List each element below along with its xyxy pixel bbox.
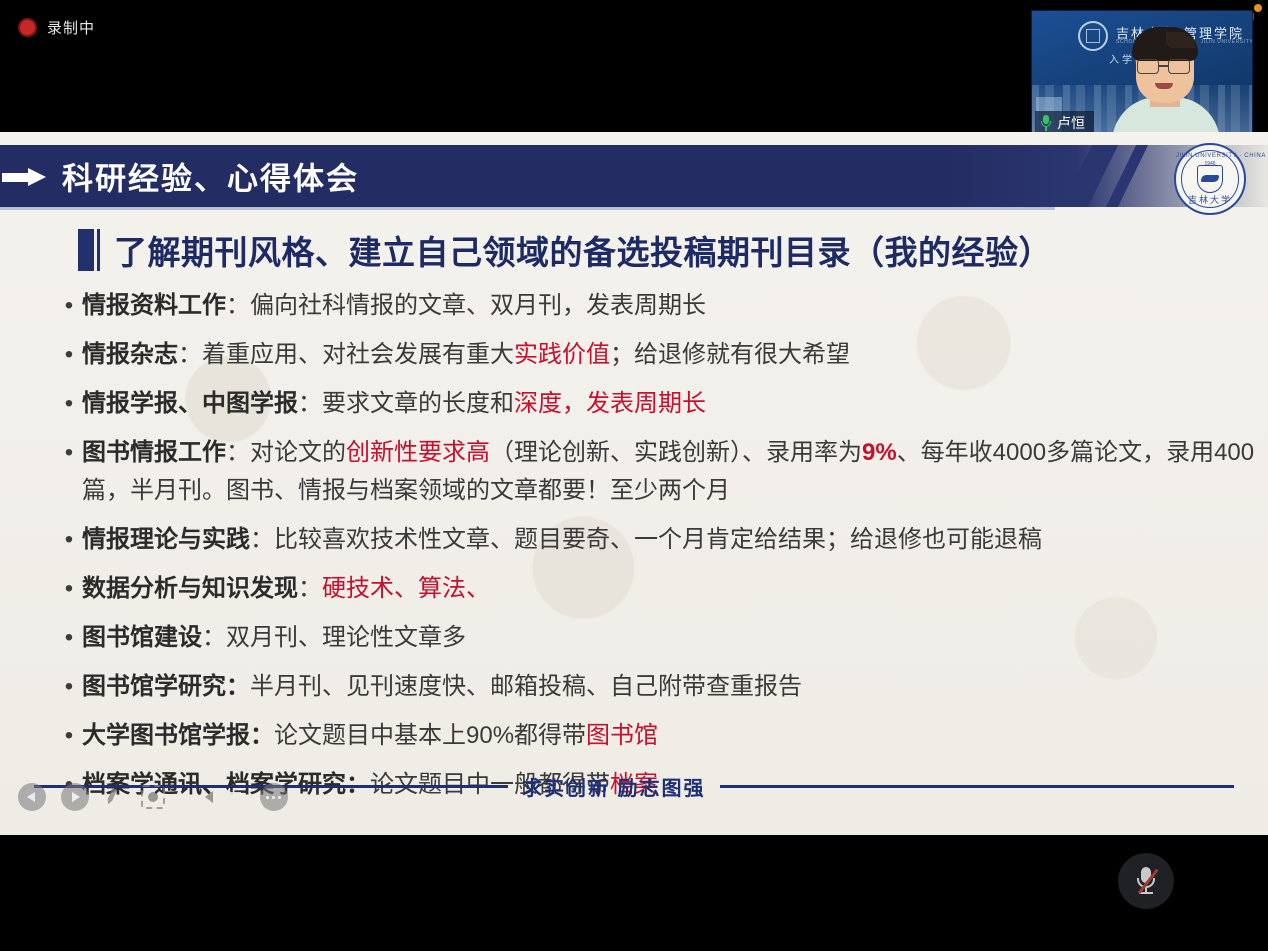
bullet-item: •图书馆建设：双月刊、理论性文章多 [56, 619, 1256, 657]
bullet-text-run: 图书馆建设 [82, 624, 202, 651]
bullet-marker: • [56, 619, 82, 657]
bullet-item: •数据分析与知识发现：硬技术、算法、 [56, 570, 1256, 608]
camera-icon[interactable] [180, 787, 206, 807]
bullet-text-run: ：偏向社科情报的文章、双月刊，发表周期长 [226, 292, 706, 319]
participant-name-badge: 卢恒 [1035, 111, 1094, 134]
bullet-item: •图书馆学研究：半月刊、见刊速度快、邮箱投稿、自己附带查重报告 [56, 668, 1256, 706]
bullet-marker: • [56, 668, 82, 706]
bullet-item: •大学图书馆学报：论文题目中基本上90%都得带图书馆 [56, 717, 1256, 755]
bullet-text: 情报学报、中图学报：要求文章的长度和深度，发表周期长 [82, 385, 1256, 423]
recording-label: 录制中 [47, 17, 95, 38]
bullet-text-run: ： [298, 575, 322, 602]
bullet-text: 大学图书馆学报：论文题目中基本上90%都得带图书馆 [82, 717, 1256, 755]
footer-line-right [720, 785, 1234, 788]
recording-indicator: 录制中 [18, 17, 95, 38]
header-underline [0, 207, 1055, 210]
bullet-text-run: 情报杂志 [82, 341, 178, 368]
bullet-text: 图书馆建设：双月刊、理论性文章多 [82, 619, 1256, 657]
bullet-text-run: 硬技术、算法、 [322, 575, 490, 602]
bullet-text-run: 图书馆 [586, 722, 658, 749]
corner-orange-dot [1254, 4, 1262, 12]
participant-name: 卢恒 [1057, 113, 1085, 133]
microphone-on-icon [1040, 115, 1052, 131]
more-icon[interactable] [260, 783, 288, 811]
bullet-text-run: ：要求文章的长度和 [298, 390, 514, 417]
footer-slogan: 求实创新 励志图强 [522, 772, 706, 801]
bullet-text-run: 9% [862, 439, 897, 466]
microphone-muted-icon [1135, 866, 1157, 896]
slide-title-row: 了解期刊风格、建立自己领域的备选投稿期刊目录（我的经验） [78, 226, 1052, 274]
bullet-text-run: 图书馆学研究： [82, 673, 250, 700]
bullet-item: •情报资料工作：偏向社科情报的文章、双月刊，发表周期长 [56, 287, 1256, 325]
bullet-text-run: 实践价值 [514, 341, 610, 368]
slide-title: 了解期刊风格、建立自己领域的备选投稿期刊目录（我的经验） [114, 226, 1052, 274]
bullet-text: 图书情报工作：对论文的创新性要求高（理论创新、实践创新）、录用率为9%、每年收4… [82, 434, 1256, 510]
bullet-marker: • [56, 336, 82, 374]
bullet-text-run: 半月刊、见刊速度快、邮箱投稿、自己附带查重报告 [250, 673, 802, 700]
pen-icon[interactable] [104, 785, 126, 809]
bullet-text-run: 深度，发表周期长 [514, 390, 706, 417]
bullet-text-run: 创新性要求高 [346, 439, 490, 466]
bullet-text-run: 情报学报、中图学报 [82, 390, 298, 417]
bullet-item: •情报理论与实践：比较喜欢技术性文章、题目要奇、一个月肯定给结果；给退修也可能退… [56, 521, 1256, 559]
bullet-text: 情报杂志：着重应用、对社会发展有重大实践价值；给退修就有很大希望 [82, 336, 1256, 374]
bullet-text-run: ；给退修就有很大希望 [610, 341, 850, 368]
bullet-text-run: （理论创新、实践创新）、录用率为 [490, 439, 862, 466]
bullet-text-run: 图书情报工作 [82, 439, 226, 466]
bullet-text-run: ：双月刊、理论性文章多 [202, 624, 466, 651]
title-marker-icon [78, 229, 94, 271]
avatar-hair [1132, 27, 1198, 61]
bullet-marker: • [56, 385, 82, 423]
bullet-text-run: 情报理论与实践 [82, 526, 250, 553]
player-toolbar[interactable] [18, 783, 288, 811]
presentation-slide: 科研经验、心得体会 JILIN UNIVERSITY · CHINA 1946 … [0, 132, 1268, 835]
bullet-item: •图书情报工作：对论文的创新性要求高（理论创新、实践创新）、录用率为9%、每年收… [56, 434, 1256, 510]
participant-video-tile[interactable]: 吉林大学 SCHOOL OF MANAGEMENT · JILIN UNIVER… [1031, 10, 1253, 138]
bullet-marker: • [56, 287, 82, 325]
screenshot-icon[interactable] [141, 785, 165, 809]
bullet-text-run: 论文题目中基本上90%都得带 [274, 722, 586, 749]
section-title: 科研经验、心得体会 [62, 154, 359, 199]
note-icon[interactable] [221, 787, 245, 808]
university-logo-icon [1078, 21, 1108, 51]
bullet-text-run: ：着重应用、对社会发展有重大 [178, 341, 514, 368]
bullet-text-run: 情报资料工作 [82, 292, 226, 319]
mute-microphone-button[interactable] [1118, 853, 1174, 909]
bullet-item: •情报学报、中图学报：要求文章的长度和深度，发表周期长 [56, 385, 1256, 423]
record-dot-icon [18, 18, 37, 37]
seal-top-text: JILIN UNIVERSITY · CHINA [1176, 153, 1244, 159]
bullet-text-run: ：对论文的 [226, 439, 346, 466]
avatar-glasses [1136, 59, 1194, 74]
university-seal-icon: JILIN UNIVERSITY · CHINA 1946 吉林大学 [1174, 143, 1246, 215]
bullet-marker: • [56, 434, 82, 472]
bullet-text-run: 数据分析与知识发现 [82, 575, 298, 602]
slide-section-header: 科研经验、心得体会 [0, 145, 1268, 207]
bullet-item: •情报杂志：着重应用、对社会发展有重大实践价值；给退修就有很大希望 [56, 336, 1256, 374]
bullet-text-run: ：比较喜欢技术性文章、题目要奇、一个月肯定给结果；给退修也可能退稿 [250, 526, 1042, 553]
bullet-text: 图书馆学研究：半月刊、见刊速度快、邮箱投稿、自己附带查重报告 [82, 668, 1256, 706]
bullet-text-run: 大学图书馆学报： [82, 722, 274, 749]
bullet-marker: • [56, 521, 82, 559]
previous-icon[interactable] [18, 783, 46, 811]
participant-avatar [1110, 23, 1222, 138]
bottom-black-bar [0, 835, 1268, 951]
bullet-marker: • [56, 570, 82, 608]
seal-bottom-text: 吉林大学 [1176, 193, 1244, 206]
bullet-text: 情报资料工作：偏向社科情报的文章、双月刊，发表周期长 [82, 287, 1256, 325]
bullet-text: 数据分析与知识发现：硬技术、算法、 [82, 570, 1256, 608]
play-icon[interactable] [61, 783, 89, 811]
bullet-text: 情报理论与实践：比较喜欢技术性文章、题目要奇、一个月肯定给结果；给退修也可能退稿 [82, 521, 1256, 559]
arrow-right-icon [2, 168, 48, 186]
bullet-list: •情报资料工作：偏向社科情报的文章、双月刊，发表周期长•情报杂志：着重应用、对社… [56, 287, 1256, 815]
bullet-marker: • [56, 717, 82, 755]
